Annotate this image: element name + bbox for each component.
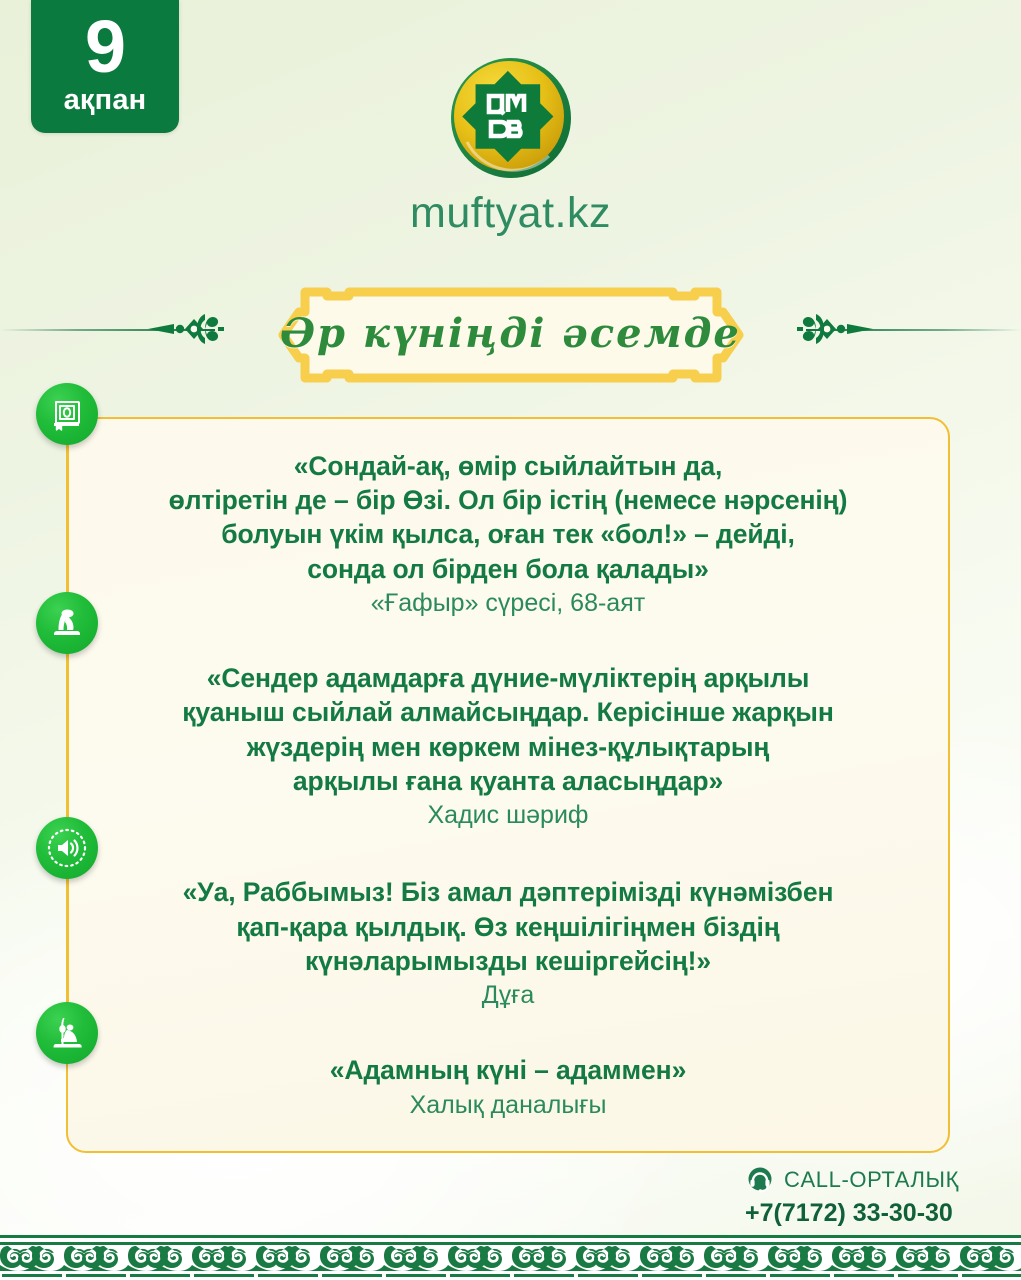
quote-text: «Сондай-ақ, өмір сыйлайтын да, өлтіретін… xyxy=(108,449,908,586)
rail-connector-line xyxy=(67,430,69,1060)
quote-line: «Сендер адамдарға дүние-мүліктерің арқыл… xyxy=(108,661,908,695)
dombra-player-glyph xyxy=(50,1016,84,1050)
speaker-sound-glyph xyxy=(44,825,90,871)
call-center-row: CALL-ОРТАЛЫҚ xyxy=(745,1165,959,1195)
call-center-label: CALL-ОРТАЛЫҚ xyxy=(784,1169,959,1191)
quote-line: болуын үкім қылса, оған тек «бол!» – дей… xyxy=(108,517,908,551)
poster-canvas: 9 ақпан xyxy=(0,0,1021,1280)
category-icon-rail xyxy=(0,0,120,1280)
praying-person-glyph xyxy=(50,606,84,640)
quote-text: «Уа, Раббымыз! Біз амал дәптерімізді күн… xyxy=(108,875,908,978)
quote-source: Хадис шәриф xyxy=(108,799,908,832)
kazakh-ornament-border-icon xyxy=(0,1235,1021,1280)
brand-header: muftyat.kz xyxy=(0,56,1021,235)
quote-line: «Адамның күні – адаммен» xyxy=(108,1053,908,1087)
quote-line: күнәларымызды кешіргейсің!» xyxy=(108,944,908,978)
qmdb-emblem-icon xyxy=(449,56,573,180)
quote-source: Халық даналығы xyxy=(108,1089,908,1122)
speaker-sound-icon[interactable] xyxy=(36,817,98,879)
quote-line: «Уа, Раббымыз! Біз амал дәптерімізді күн… xyxy=(108,875,908,909)
quran-book-glyph xyxy=(50,397,84,431)
quran-book-icon[interactable] xyxy=(36,383,98,445)
call-center-phone: +7(7172) 33-30-30 xyxy=(745,1199,953,1228)
headset-icon xyxy=(745,1165,775,1195)
quote-line: сонда ол бірден бола қалады» xyxy=(108,552,908,586)
quote-line: арқылы ғана қуанта аласыңдар» xyxy=(108,764,908,798)
quote-text: «Адамның күні – адаммен» xyxy=(108,1053,908,1087)
quote-line: өлтіретін де – бір Өзі. Ол бір істің (не… xyxy=(108,483,908,517)
title-banner: Әр күніңді әсемде xyxy=(261,282,761,388)
banner-title: Әр күніңді әсемде xyxy=(261,282,761,388)
banner-row: Әр күніңді әсемде xyxy=(0,282,1021,388)
quote-text: «Сендер адамдарға дүние-мүліктерің арқыл… xyxy=(108,661,908,798)
ornament-flourish-icon xyxy=(148,294,226,364)
call-center-block: CALL-ОРТАЛЫҚ +7(7172) 33-30-30 xyxy=(745,1165,959,1228)
content-block: «Сондай-ақ, өмір сыйлайтын да, өлтіретін… xyxy=(108,449,908,619)
content-card: «Сондай-ақ, өмір сыйлайтын да, өлтіретін… xyxy=(66,417,950,1153)
content-block: «Сендер адамдарға дүние-мүліктерің арқыл… xyxy=(108,661,908,831)
quote-line: жүздерің мен көркем мінез-құлықтарың xyxy=(108,730,908,764)
brand-name: muftyat.kz xyxy=(410,192,611,235)
praying-person-icon[interactable] xyxy=(36,592,98,654)
quote-source: «Ғафыр» сүресі, 68-аят xyxy=(108,587,908,620)
content-block: «Уа, Раббымыз! Біз амал дәптерімізді күн… xyxy=(108,875,908,1011)
dombra-player-icon[interactable] xyxy=(36,1002,98,1064)
quote-line: «Сондай-ақ, өмір сыйлайтын да, xyxy=(108,449,908,483)
ornament-flourish-icon xyxy=(795,294,873,364)
quote-source: Дұға xyxy=(108,979,908,1012)
quote-line: қап-қара қылдық. Өз кеңшілігіңмен біздің xyxy=(108,910,908,944)
quote-line: қуаныш сыйлай алмайсыңдар. Керісінше жар… xyxy=(108,695,908,729)
content-block: «Адамның күні – адаммен» Халық даналығы xyxy=(108,1053,908,1121)
